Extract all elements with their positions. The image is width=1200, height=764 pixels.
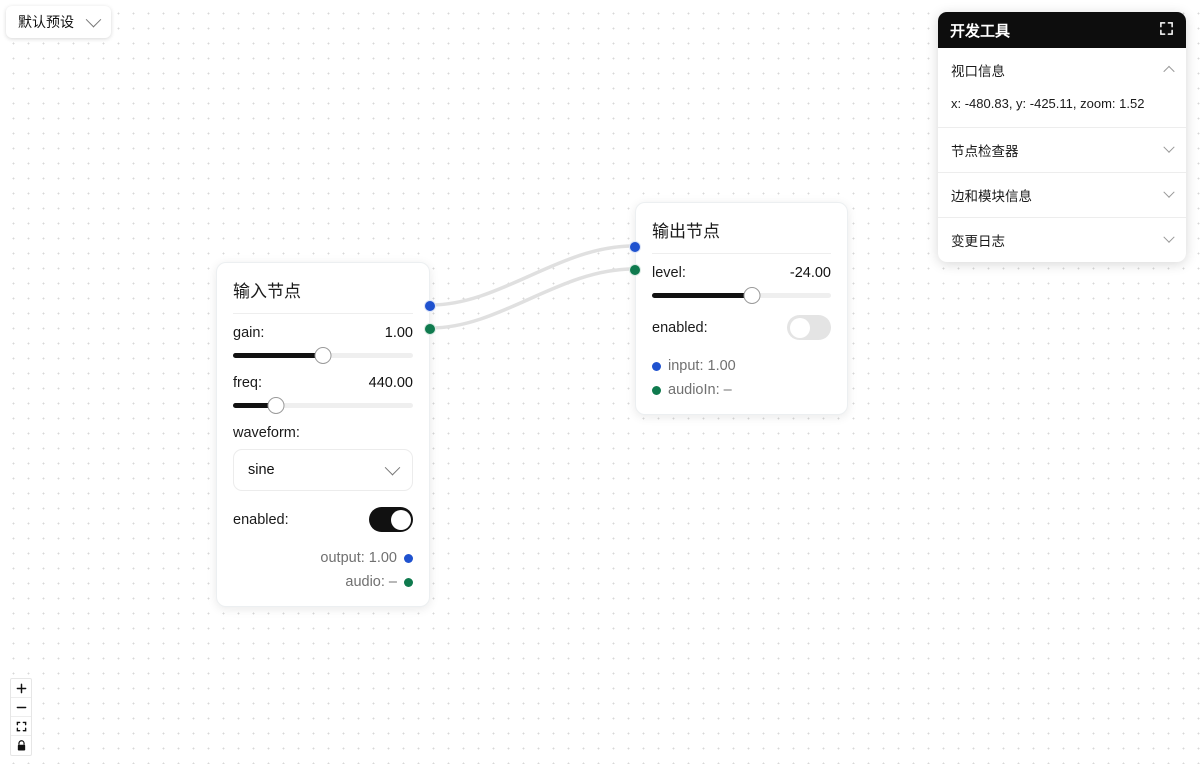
- preset-label: 默认预设: [18, 12, 74, 32]
- devtools-header: 开发工具: [938, 12, 1186, 48]
- param-row-gain: gain: 1.00: [233, 325, 413, 341]
- section-header-changelog[interactable]: 变更日志: [938, 218, 1186, 262]
- edge-output-to-input: [431, 246, 633, 305]
- toggle-knob: [790, 318, 810, 338]
- port-label: audio: –: [345, 570, 397, 594]
- flow-canvas[interactable]: 默认预设 输入节点 gain: 1.00 freq: 440.00 wavefo…: [0, 0, 1200, 764]
- handle-output-source[interactable]: [424, 300, 436, 312]
- toggle-knob: [391, 510, 411, 530]
- chevron-down-icon: [1163, 187, 1174, 198]
- node-input[interactable]: 输入节点 gain: 1.00 freq: 440.00 waveform: s…: [216, 262, 430, 607]
- slider-thumb[interactable]: [268, 397, 285, 414]
- waveform-label: waveform:: [233, 425, 413, 441]
- zoom-controls[interactable]: [10, 678, 32, 756]
- chevron-down-icon: [385, 459, 401, 475]
- port-dot-blue-icon: [652, 362, 661, 371]
- slider-thumb[interactable]: [315, 347, 332, 364]
- port-label: input: 1.00: [668, 354, 736, 378]
- zoom-in-button[interactable]: [11, 679, 31, 698]
- port-dot-green-icon: [652, 386, 661, 395]
- slider-fill: [652, 293, 752, 298]
- enabled-label: enabled:: [652, 320, 708, 336]
- chevron-down-icon: [1163, 142, 1174, 153]
- devtools-section-node-inspector: 节点检查器: [938, 128, 1186, 173]
- output-ports: output: 1.00 audio: –: [233, 546, 413, 594]
- port-input[interactable]: input: 1.00: [652, 354, 831, 378]
- preset-dropdown[interactable]: 默认预设: [6, 6, 111, 38]
- port-dot-blue-icon: [404, 554, 413, 563]
- port-label: output: 1.00: [320, 546, 397, 570]
- section-label: 视口信息: [951, 60, 1005, 80]
- slider-fill: [233, 353, 323, 358]
- param-row-freq: freq: 440.00: [233, 375, 413, 391]
- port-audioin[interactable]: audioIn: –: [652, 378, 831, 402]
- section-header-node-inspector[interactable]: 节点检查器: [938, 128, 1186, 172]
- chevron-up-icon: [1163, 66, 1174, 77]
- node-title: 输出节点: [652, 217, 831, 254]
- param-value: 1.00: [385, 325, 413, 341]
- waveform-value: sine: [248, 462, 275, 478]
- fit-view-button[interactable]: [11, 717, 31, 736]
- edge-audio-to-audioin: [431, 269, 633, 328]
- section-header-viewport[interactable]: 视口信息: [938, 48, 1186, 92]
- enabled-row: enabled:: [233, 507, 413, 532]
- param-value: -24.00: [790, 265, 831, 281]
- slider-thumb[interactable]: [744, 287, 761, 304]
- devtools-section-viewport: 视口信息 x: -480.83, y: -425.11, zoom: 1.52: [938, 48, 1186, 128]
- node-title: 输入节点: [233, 277, 413, 314]
- section-header-edge-module[interactable]: 边和模块信息: [938, 173, 1186, 217]
- param-label: level:: [652, 265, 686, 281]
- handle-audioin-target[interactable]: [629, 264, 641, 276]
- collapse-icon[interactable]: [1159, 21, 1174, 40]
- param-label: gain:: [233, 325, 264, 341]
- slider-level[interactable]: [652, 287, 831, 303]
- slider-gain[interactable]: [233, 347, 413, 363]
- param-value: 440.00: [369, 375, 413, 391]
- port-label: audioIn: –: [668, 378, 732, 402]
- port-dot-green-icon: [404, 578, 413, 587]
- devtools-section-edge-module: 边和模块信息: [938, 173, 1186, 218]
- section-label: 变更日志: [951, 230, 1005, 250]
- handle-input-target[interactable]: [629, 241, 641, 253]
- devtools-section-changelog: 变更日志: [938, 218, 1186, 262]
- node-output[interactable]: 输出节点 level: -24.00 enabled: input: 1.00 …: [635, 202, 848, 415]
- port-audio[interactable]: audio: –: [233, 570, 413, 594]
- section-label: 节点检查器: [951, 140, 1019, 160]
- zoom-out-button[interactable]: [11, 698, 31, 717]
- enabled-row: enabled:: [652, 315, 831, 340]
- chevron-down-icon: [86, 11, 102, 27]
- chevron-down-icon: [1163, 232, 1174, 243]
- devtools-title: 开发工具: [950, 20, 1010, 41]
- input-ports: input: 1.00 audioIn: –: [652, 354, 831, 402]
- enabled-toggle[interactable]: [369, 507, 413, 532]
- slider-freq[interactable]: [233, 397, 413, 413]
- handle-audio-source[interactable]: [424, 323, 436, 335]
- waveform-select[interactable]: sine: [233, 449, 413, 491]
- enabled-label: enabled:: [233, 512, 289, 528]
- lock-canvas-button[interactable]: [11, 736, 31, 755]
- port-output[interactable]: output: 1.00: [233, 546, 413, 570]
- enabled-toggle[interactable]: [787, 315, 831, 340]
- section-label: 边和模块信息: [951, 185, 1032, 205]
- viewport-info-text: x: -480.83, y: -425.11, zoom: 1.52: [938, 92, 1186, 127]
- param-label: freq:: [233, 375, 262, 391]
- devtools-panel[interactable]: 开发工具 视口信息 x: -480.83, y: -425.11, zoom: …: [938, 12, 1186, 262]
- param-row-level: level: -24.00: [652, 265, 831, 281]
